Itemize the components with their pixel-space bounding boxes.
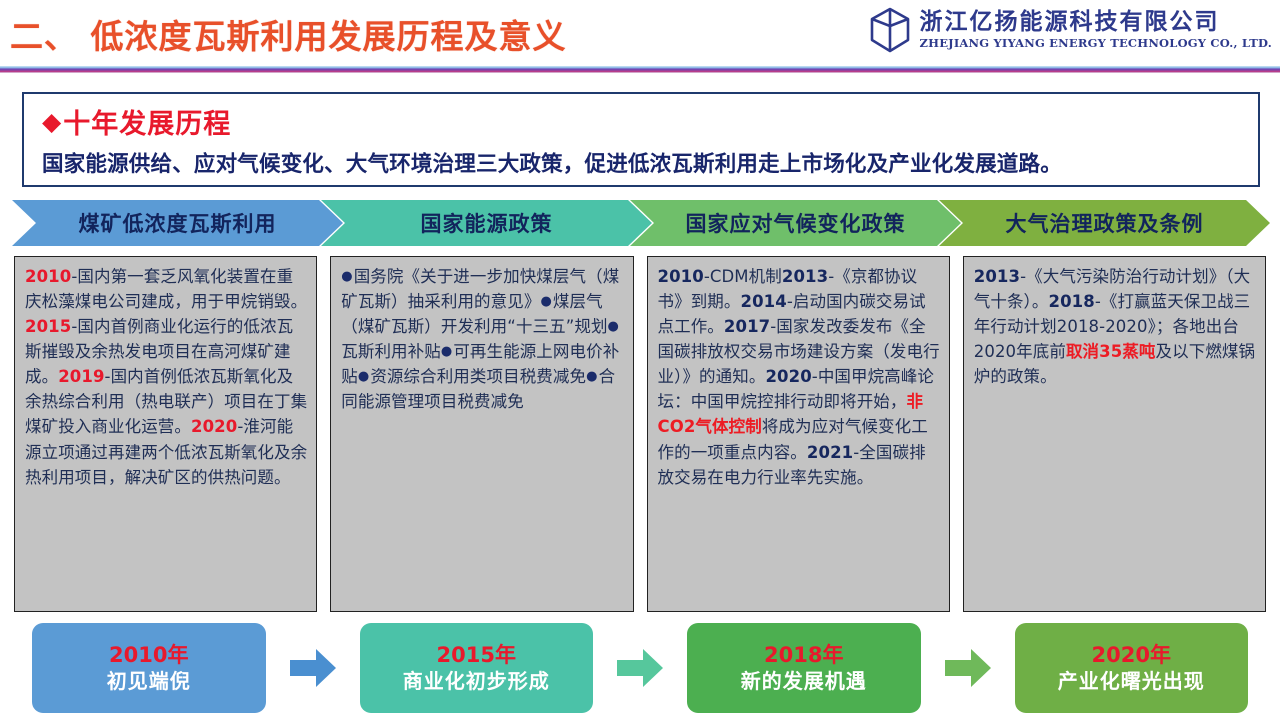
- chevron-climate-policy[interactable]: 国家应对气候变化政策: [630, 200, 961, 246]
- red-diamond-bullet-icon: ◆: [42, 109, 61, 134]
- milestone-label: 新的发展机遇: [741, 668, 867, 694]
- entry-year: 2010: [658, 267, 704, 286]
- chevron-label: 国家能源政策: [421, 208, 553, 238]
- entry-year: 2019: [58, 367, 104, 386]
- right-arrow-icon: [617, 647, 663, 689]
- chevron-label: 煤矿低浓度瓦斯利用: [79, 208, 277, 238]
- entry-year: 2013: [974, 267, 1020, 286]
- milestone-2018[interactable]: 2018年 新的发展机遇: [687, 623, 921, 713]
- milestone-year: 2020年: [1092, 642, 1171, 668]
- milestone-label: 产业化曙光出现: [1058, 668, 1205, 694]
- panel-body-text: 2013-《大气污染防治行动计划》（大气十条）。2018-《打赢蓝天保卫战三年行…: [974, 264, 1256, 389]
- slide-header: 二、 低浓度瓦斯利用发展历程及意义 浙江亿扬能源科技有限公司 ZHEJIANG …: [0, 0, 1280, 72]
- entry-year: 2010: [25, 267, 71, 286]
- panel-air-governance: 2013-《大气污染防治行动计划》（大气十条）。2018-《打赢蓝天保卫战三年行…: [963, 256, 1266, 612]
- entry-year: 2015: [25, 317, 71, 336]
- highlighted-term: 非CO2气体控制: [658, 392, 924, 436]
- bullet-dot-icon: ●: [608, 317, 619, 337]
- milestone-row: 2010年 初见端倪 2015年 商业化初步形成 2018年 新的发展机遇 20…: [32, 620, 1248, 716]
- bullet-dot-icon: ●: [358, 367, 369, 387]
- milestone-2020[interactable]: 2020年 产业化曙光出现: [1015, 623, 1249, 713]
- company-name-en: ZHEJIANG YIYANG ENERGY TECHNOLOGY CO., L…: [920, 36, 1272, 50]
- callout-heading-row: ◆ 十年发展历程: [42, 102, 1258, 141]
- callout-subtitle: 国家能源供给、应对气候变化、大气环境治理三大政策，促进低浓瓦斯利用走上市场化及产…: [42, 147, 1258, 178]
- panel-body-text: ●国务院《关于进一步加快煤层气（煤矿瓦斯）抽采利用的意见》●煤层气（煤矿瓦斯）开…: [341, 264, 623, 414]
- chevron-energy-policy[interactable]: 国家能源政策: [321, 200, 652, 246]
- bullet-dot-icon: ●: [441, 342, 452, 362]
- category-chevron-band: 煤矿低浓度瓦斯利用 国家能源政策 国家应对气候变化政策 大气治理政策及条例: [12, 200, 1270, 246]
- chevron-label: 大气治理政策及条例: [1006, 208, 1204, 238]
- bullet-dot-icon: ●: [586, 367, 597, 387]
- chevron-label: 国家应对气候变化政策: [686, 208, 906, 238]
- entry-year: 2020: [765, 367, 811, 386]
- milestone-label: 商业化初步形成: [403, 668, 550, 694]
- panel-coal-mine-gas: 2010-国内第一套乏风氧化装置在重庆松藻煤电公司建成，用于甲烷销毁。2015-…: [14, 256, 317, 612]
- panel-body-text: 2010-国内第一套乏风氧化装置在重庆松藻煤电公司建成，用于甲烷销毁。2015-…: [25, 264, 307, 490]
- panel-energy-policy: ●国务院《关于进一步加快煤层气（煤矿瓦斯）抽采利用的意见》●煤层气（煤矿瓦斯）开…: [330, 256, 633, 612]
- chevron-coal-mine-gas[interactable]: 煤矿低浓度瓦斯利用: [12, 200, 343, 246]
- entry-year: 2017: [724, 317, 770, 336]
- callout-title: 十年发展历程: [63, 102, 231, 141]
- hexagon-cube-logo-icon: [868, 6, 912, 54]
- entry-year: 2013: [782, 267, 828, 286]
- entry-year: 2021: [807, 443, 853, 462]
- milestone-label: 初见端倪: [107, 668, 191, 694]
- milestone-year: 2010年: [109, 642, 188, 668]
- entry-year: 2018: [1049, 292, 1095, 311]
- header-divider-bar: [0, 66, 1280, 73]
- bullet-dot-icon: ●: [341, 267, 352, 287]
- content-panel-row: 2010-国内第一套乏风氧化装置在重庆松藻煤电公司建成，用于甲烷销毁。2015-…: [14, 256, 1266, 612]
- right-arrow-icon: [945, 647, 991, 689]
- bullet-dot-icon: ●: [540, 292, 551, 312]
- entry-year: 2020: [191, 417, 237, 436]
- panel-body-text: 2010-CDM机制2013-《京都协议书》到期。2014-启动国内碳交易试点工…: [658, 264, 940, 490]
- page-title: 二、 低浓度瓦斯利用发展历程及意义: [10, 10, 567, 58]
- right-arrow-icon: [290, 647, 336, 689]
- entry-year: 2014: [741, 292, 787, 311]
- highlighted-term: 取消35蒸吨: [1066, 342, 1156, 361]
- milestone-year: 2015年: [437, 642, 516, 668]
- panel-climate-policy: 2010-CDM机制2013-《京都协议书》到期。2014-启动国内碳交易试点工…: [647, 256, 950, 612]
- chevron-air-governance[interactable]: 大气治理政策及条例: [939, 200, 1270, 246]
- decade-progress-callout: ◆ 十年发展历程 国家能源供给、应对气候变化、大气环境治理三大政策，促进低浓瓦斯…: [22, 92, 1260, 187]
- milestone-2010[interactable]: 2010年 初见端倪: [32, 623, 266, 713]
- company-logo-block: 浙江亿扬能源科技有限公司 ZHEJIANG YIYANG ENERGY TECH…: [868, 6, 1272, 54]
- company-name-cn: 浙江亿扬能源科技有限公司: [920, 10, 1272, 36]
- milestone-2015[interactable]: 2015年 商业化初步形成: [360, 623, 594, 713]
- milestone-year: 2018年: [764, 642, 843, 668]
